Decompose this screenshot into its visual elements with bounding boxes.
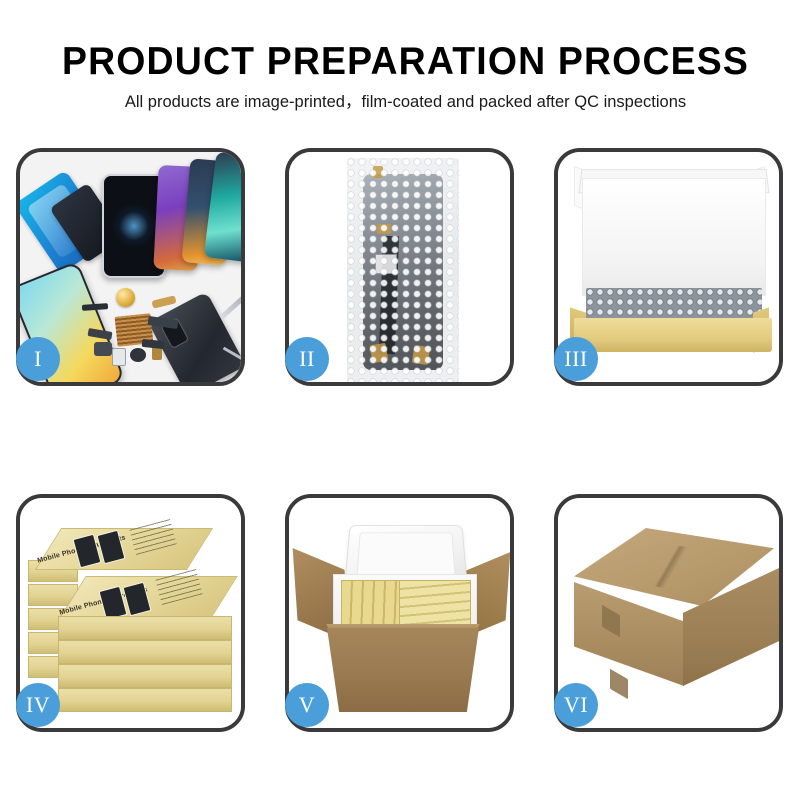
yellow-box-front bbox=[574, 318, 772, 352]
stacked-box bbox=[58, 616, 232, 640]
bubble-texture bbox=[347, 158, 459, 384]
step-badge-3: III bbox=[554, 337, 598, 381]
process-step-2[interactable]: II bbox=[279, 148, 532, 393]
stacked-box bbox=[58, 640, 232, 664]
bubble-wrap-layer bbox=[586, 288, 762, 322]
small-part bbox=[130, 348, 146, 362]
step-badge-6: VI bbox=[554, 683, 598, 727]
process-step-1[interactable]: I bbox=[10, 148, 263, 393]
stacked-box bbox=[58, 688, 232, 712]
page-header: PRODUCT PREPARATION PROCESS All products… bbox=[0, 0, 811, 112]
step-badge-5: V bbox=[285, 683, 329, 727]
bubble-wrap-bag bbox=[347, 158, 459, 384]
process-steps-grid: I II bbox=[0, 148, 811, 739]
process-step-5[interactable]: V bbox=[279, 494, 532, 739]
process-step-4[interactable]: Mobile Phone Spare Parts Mobile Phone Sp… bbox=[10, 494, 263, 739]
step-badge-2: II bbox=[285, 337, 329, 381]
process-step-3[interactable]: III bbox=[548, 148, 801, 393]
page-title: PRODUCT PREPARATION PROCESS bbox=[16, 42, 795, 82]
small-part bbox=[112, 348, 126, 366]
page-subtitle: All products are image-printed，film-coat… bbox=[0, 92, 811, 112]
step-badge-4: IV bbox=[16, 683, 60, 727]
small-part bbox=[94, 342, 112, 356]
stacked-box bbox=[58, 664, 232, 688]
box-white-liner bbox=[582, 178, 766, 296]
process-step-6[interactable]: VI bbox=[548, 494, 801, 739]
step-badge-1: I bbox=[16, 337, 60, 381]
carton-front-panel bbox=[327, 628, 479, 712]
gold-component bbox=[116, 288, 135, 307]
